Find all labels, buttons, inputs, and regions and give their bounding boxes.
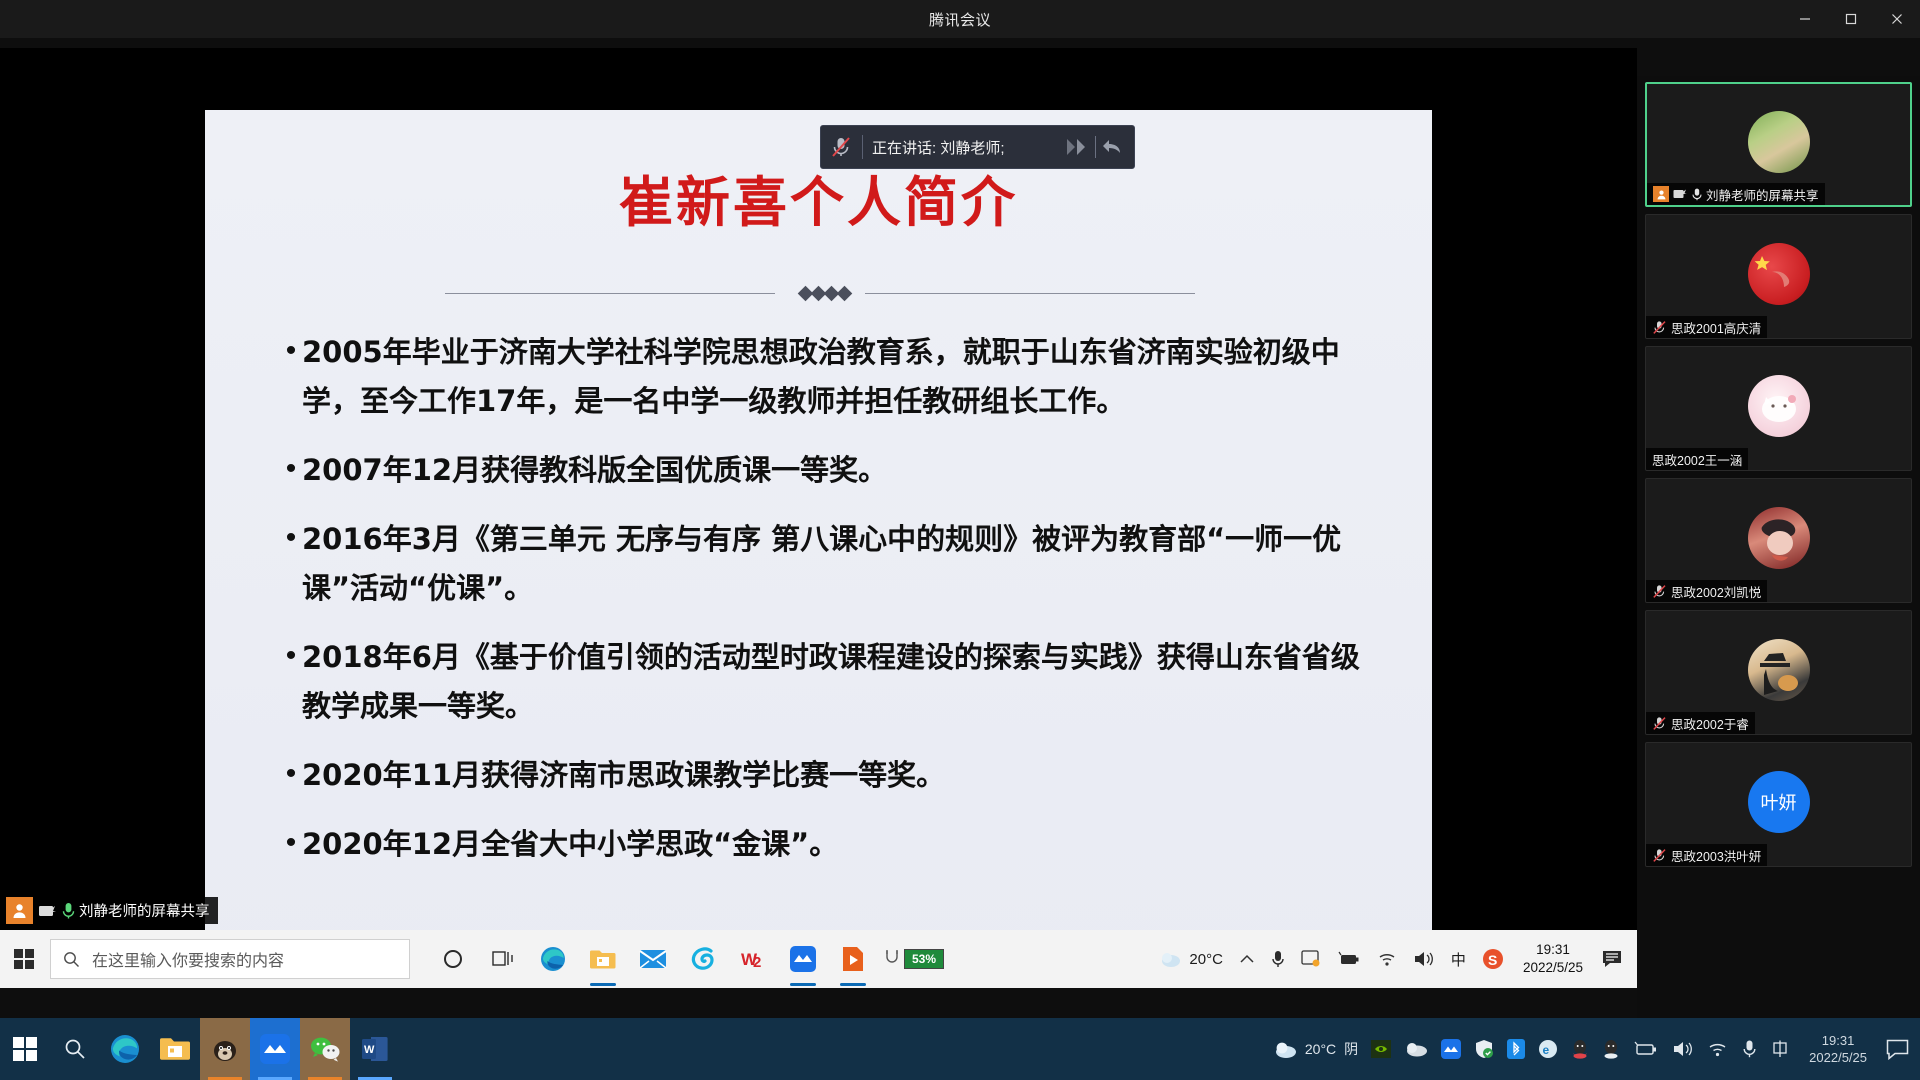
host-system-tray: 20°C 阴 e: [1267, 1032, 1920, 1066]
microphone-icon[interactable]: [1736, 1039, 1763, 1059]
participant-tile-2[interactable]: 思政2002王一涵: [1645, 346, 1912, 471]
avatar: [1748, 111, 1810, 173]
edge-icon[interactable]: [100, 1018, 150, 1080]
media-player-icon[interactable]: [828, 930, 878, 988]
battery-status[interactable]: 53%: [878, 930, 948, 988]
edge-icon[interactable]: [528, 930, 578, 988]
title-divider: [445, 282, 1195, 306]
avatar: [1748, 243, 1810, 305]
bullet-text: 2016年3月《第三单元 无序与有序 第八课心中的规则》被评为教育部“一师一优课…: [302, 515, 1370, 613]
qq2-icon[interactable]: [1596, 1039, 1626, 1059]
speaking-indicator-bar: 正在讲话: 刘静老师;: [820, 125, 1135, 169]
windows-start-icon[interactable]: [0, 1018, 50, 1080]
user-orange-icon: [6, 897, 33, 924]
participant-tile-1[interactable]: 思政2001高庆清: [1645, 214, 1912, 339]
bullet-text: 2018年6月《基于价值引领的活动型时政课程建设的探索与实践》获得山东省省级教学…: [302, 633, 1370, 731]
360-browser-icon[interactable]: [678, 930, 728, 988]
host-taskbar: W 20°C 阴: [0, 1018, 1920, 1080]
word-icon[interactable]: W: [350, 1018, 400, 1080]
participant-name: 思政2002于睿: [1671, 714, 1749, 733]
battery-charging-icon: [882, 948, 902, 970]
maximize-button[interactable]: [1828, 0, 1874, 38]
participant-name-bar: 思政2002刘凯悦: [1646, 580, 1767, 602]
clock-time: 19:31: [1523, 941, 1583, 959]
clock[interactable]: 19:31 2022/5/25: [1513, 941, 1593, 977]
battery-tray-icon[interactable]: [1330, 951, 1368, 967]
mic-icon: [1692, 188, 1702, 201]
qq-icon[interactable]: [1565, 1039, 1595, 1059]
mic-muted-icon: [1652, 716, 1667, 731]
tencent-meeting-window: 腾讯会议 崔新喜个人简介: [0, 0, 1920, 1080]
tencent-meeting-icon[interactable]: [778, 930, 828, 988]
participant-name-bar: 思政2001高庆清: [1646, 316, 1767, 338]
screen-share-icon: [1673, 188, 1688, 200]
window-title: 腾讯会议: [929, 9, 991, 30]
share-status-chip: 刘静老师的屏幕共享: [6, 897, 218, 924]
volume-icon[interactable]: [1406, 950, 1442, 968]
bullet-text: 2005年毕业于济南大学社科学院思想政治教育系，就职于山东省济南实验初级中学，至…: [302, 328, 1370, 426]
bluetooth-icon[interactable]: [1501, 1039, 1531, 1059]
action-center-icon[interactable]: [1880, 1039, 1916, 1060]
wifi-icon[interactable]: [1370, 950, 1404, 968]
participant-name: 思政2002刘凯悦: [1671, 582, 1761, 601]
mic-muted-icon: [1652, 848, 1667, 863]
edge-tray-icon[interactable]: e: [1532, 1039, 1564, 1059]
weather-temp: 20°C: [1189, 951, 1223, 968]
battery-percent: 53%: [904, 949, 944, 969]
meeting-body: 崔新喜个人简介 • 2005年毕业于济南大学社科学院思想政治教育系，就职于山东省…: [0, 38, 1920, 1018]
wechat-icon[interactable]: [300, 1018, 350, 1080]
microphone-icon[interactable]: [1264, 949, 1292, 969]
window-title-bar: 腾讯会议: [0, 0, 1920, 38]
search-placeholder: 在这里输入你要搜索的内容: [92, 947, 284, 971]
mic-muted-icon: [1652, 584, 1667, 599]
participant-rail[interactable]: 刘静老师的屏幕共享 思政2001高庆清 思: [1637, 76, 1920, 1056]
participant-tile-0[interactable]: 刘静老师的屏幕共享: [1645, 82, 1912, 207]
weather-icon[interactable]: 20°C 阴: [1267, 1039, 1364, 1059]
volume-icon[interactable]: [1666, 1040, 1700, 1058]
bullet-marker: •: [280, 820, 302, 869]
list-item: • 2020年12月全省大中小学思政“金课”。: [280, 820, 1370, 869]
avatar: [1748, 375, 1810, 437]
weather-condition: 阴: [1344, 1039, 1358, 1059]
mic-muted-icon: [829, 135, 853, 159]
share-status-label: 刘静老师的屏幕共享: [79, 900, 210, 921]
avatar-initials: 叶妍: [1748, 771, 1810, 833]
cortana-icon[interactable]: [428, 930, 478, 988]
bullet-text: 2020年11月获得济南市思政课教学比赛一等奖。: [302, 751, 1370, 800]
file-explorer-icon[interactable]: [150, 1018, 200, 1080]
search-icon: [63, 951, 80, 968]
close-button[interactable]: [1874, 0, 1920, 38]
svg-text:S: S: [1488, 952, 1497, 968]
task-view-icon[interactable]: [478, 930, 528, 988]
user-orange-icon: [1653, 186, 1669, 202]
speaking-text: 正在讲话: 刘静老师;: [872, 137, 1005, 158]
speaking-bar-actions: [1061, 134, 1126, 160]
search-icon[interactable]: [50, 1018, 100, 1080]
window-controls: [1782, 0, 1920, 38]
screen-share-icon: [38, 903, 58, 919]
participant-tile-4[interactable]: 思政2002于睿: [1645, 610, 1912, 735]
tencent-meeting-icon[interactable]: [250, 1018, 300, 1080]
minimize-button[interactable]: [1782, 0, 1828, 38]
return-arrow-icon[interactable]: [1100, 135, 1126, 159]
slide-bullet-list: • 2005年毕业于济南大学社科学院思想政治教育系，就职于山东省济南实验初级中学…: [280, 328, 1370, 889]
clock-time: 19:31: [1809, 1032, 1867, 1049]
file-explorer-icon[interactable]: [578, 930, 628, 988]
participant-name-bar: 思政2002王一涵: [1646, 448, 1748, 470]
bullet-marker: •: [280, 633, 302, 731]
inner-windows-taskbar: 在这里输入你要搜索的内容: [0, 930, 1637, 988]
list-item: • 2020年11月获得济南市思政课教学比赛一等奖。: [280, 751, 1370, 800]
participant-name-bar: 思政2002于睿: [1646, 712, 1755, 734]
search-input[interactable]: 在这里输入你要搜索的内容: [50, 939, 410, 979]
inner-system-tray: 20°C: [1152, 941, 1637, 977]
participant-name: 思政2002王一涵: [1652, 450, 1742, 469]
list-item: • 2007年12月获得教科版全国优质课一等奖。: [280, 446, 1370, 495]
avatar: [1748, 507, 1810, 569]
bullet-marker: •: [280, 515, 302, 613]
battery-tray-icon[interactable]: [1627, 1041, 1665, 1057]
ime-chinese-icon[interactable]: [1764, 1039, 1796, 1059]
participant-tile-5[interactable]: 叶妍 思政2003洪叶妍: [1645, 742, 1912, 867]
wifi-icon[interactable]: [1701, 1040, 1735, 1058]
participant-name: 思政2003洪叶妍: [1671, 846, 1761, 865]
mail-icon[interactable]: [628, 930, 678, 988]
onedrive-icon[interactable]: [1398, 1041, 1434, 1057]
participant-name: 思政2001高庆清: [1671, 318, 1761, 337]
participant-name-bar: 思政2003洪叶妍: [1646, 844, 1767, 866]
chevron-up-icon[interactable]: [1232, 953, 1262, 965]
participant-name-bar: 刘静老师的屏幕共享: [1647, 183, 1825, 205]
svg-text:e: e: [1543, 1043, 1550, 1057]
clock-date: 2022/5/25: [1523, 959, 1583, 977]
bullet-text: 2020年12月全省大中小学思政“金课”。: [302, 820, 1370, 869]
windows-start-icon[interactable]: [0, 930, 48, 988]
inner-taskbar-apps: W 2: [428, 930, 948, 988]
sogou-input-icon[interactable]: S: [1475, 948, 1511, 970]
mic-icon: [62, 902, 75, 920]
chevron-collapse-icon[interactable]: [1061, 134, 1091, 160]
shared-screen-area[interactable]: 崔新喜个人简介 • 2005年毕业于济南大学社科学院思想政治教育系，就职于山东省…: [0, 48, 1637, 988]
list-item: • 2016年3月《第三单元 无序与有序 第八课心中的规则》被评为教育部“一师一…: [280, 515, 1370, 613]
nvidia-icon[interactable]: [1365, 1040, 1397, 1058]
action-center-icon[interactable]: [1595, 949, 1631, 969]
bullet-marker: •: [280, 751, 302, 800]
bullet-marker: •: [280, 328, 302, 426]
security-shield-icon[interactable]: [1468, 1039, 1500, 1059]
screen-capture-icon[interactable]: [1294, 950, 1328, 968]
wps-icon[interactable]: W 2: [728, 930, 778, 988]
dog-app-icon[interactable]: [200, 1018, 250, 1080]
clock[interactable]: 19:31 2022/5/25: [1797, 1032, 1879, 1066]
participant-tile-3[interactable]: 思政2002刘凯悦: [1645, 478, 1912, 603]
participant-name: 刘静老师的屏幕共享: [1706, 185, 1819, 204]
mic-muted-icon: [1652, 320, 1667, 335]
ime-chinese-icon[interactable]: 中: [1444, 949, 1473, 970]
weather-icon[interactable]: 20°C: [1152, 949, 1230, 969]
svg-text:W: W: [364, 1044, 375, 1056]
svg-text:2: 2: [753, 954, 761, 971]
slide-title: 崔新喜个人简介: [205, 158, 1432, 237]
list-item: • 2005年毕业于济南大学社科学院思想政治教育系，就职于山东省济南实验初级中学…: [280, 328, 1370, 426]
clock-date: 2022/5/25: [1809, 1049, 1867, 1066]
bullet-marker: •: [280, 446, 302, 495]
bullet-text: 2007年12月获得教科版全国优质课一等奖。: [302, 446, 1370, 495]
tencent-meeting-tray-icon[interactable]: [1435, 1039, 1467, 1059]
avatar: [1748, 639, 1810, 701]
weather-temp: 20°C: [1305, 1041, 1336, 1057]
presentation-slide: 崔新喜个人简介 • 2005年毕业于济南大学社科学院思想政治教育系，就职于山东省…: [205, 110, 1432, 988]
list-item: • 2018年6月《基于价值引领的活动型时政课程建设的探索与实践》获得山东省省级…: [280, 633, 1370, 731]
